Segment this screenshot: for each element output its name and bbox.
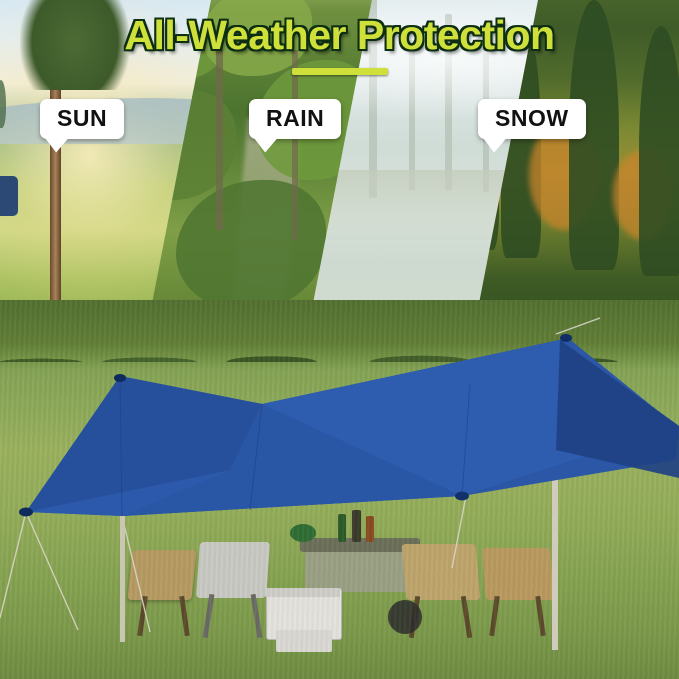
camping-tarp: [0, 300, 679, 679]
label-sun-text: SUN: [57, 105, 107, 131]
label-sun: SUN: [40, 99, 124, 139]
title-underline: [292, 68, 388, 75]
tarp-pole: [120, 514, 125, 642]
label-snow: SNOW: [478, 99, 586, 139]
label-snow-text: SNOW: [495, 105, 569, 131]
page-title: All-Weather Protection: [0, 12, 679, 59]
label-rain-text: RAIN: [266, 105, 324, 131]
product-poster: All-Weather Protection SUN RAIN SNOW: [0, 0, 679, 679]
label-rain: RAIN: [249, 99, 341, 139]
